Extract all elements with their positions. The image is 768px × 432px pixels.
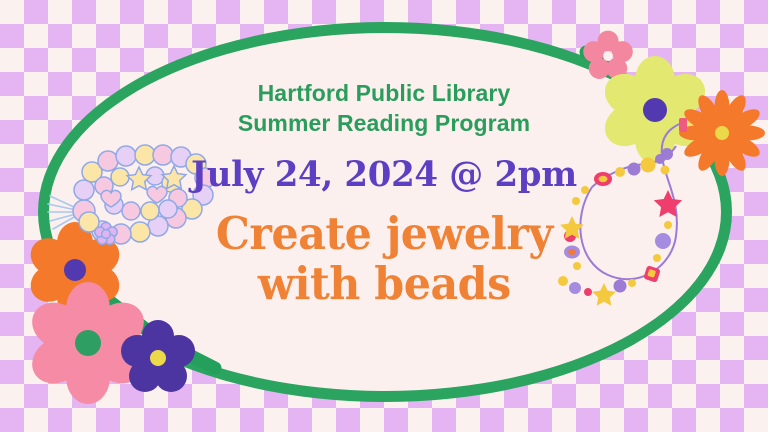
- event-poster: Hartford Public Library Summer Reading P…: [0, 0, 768, 432]
- oval-frame: [38, 22, 732, 402]
